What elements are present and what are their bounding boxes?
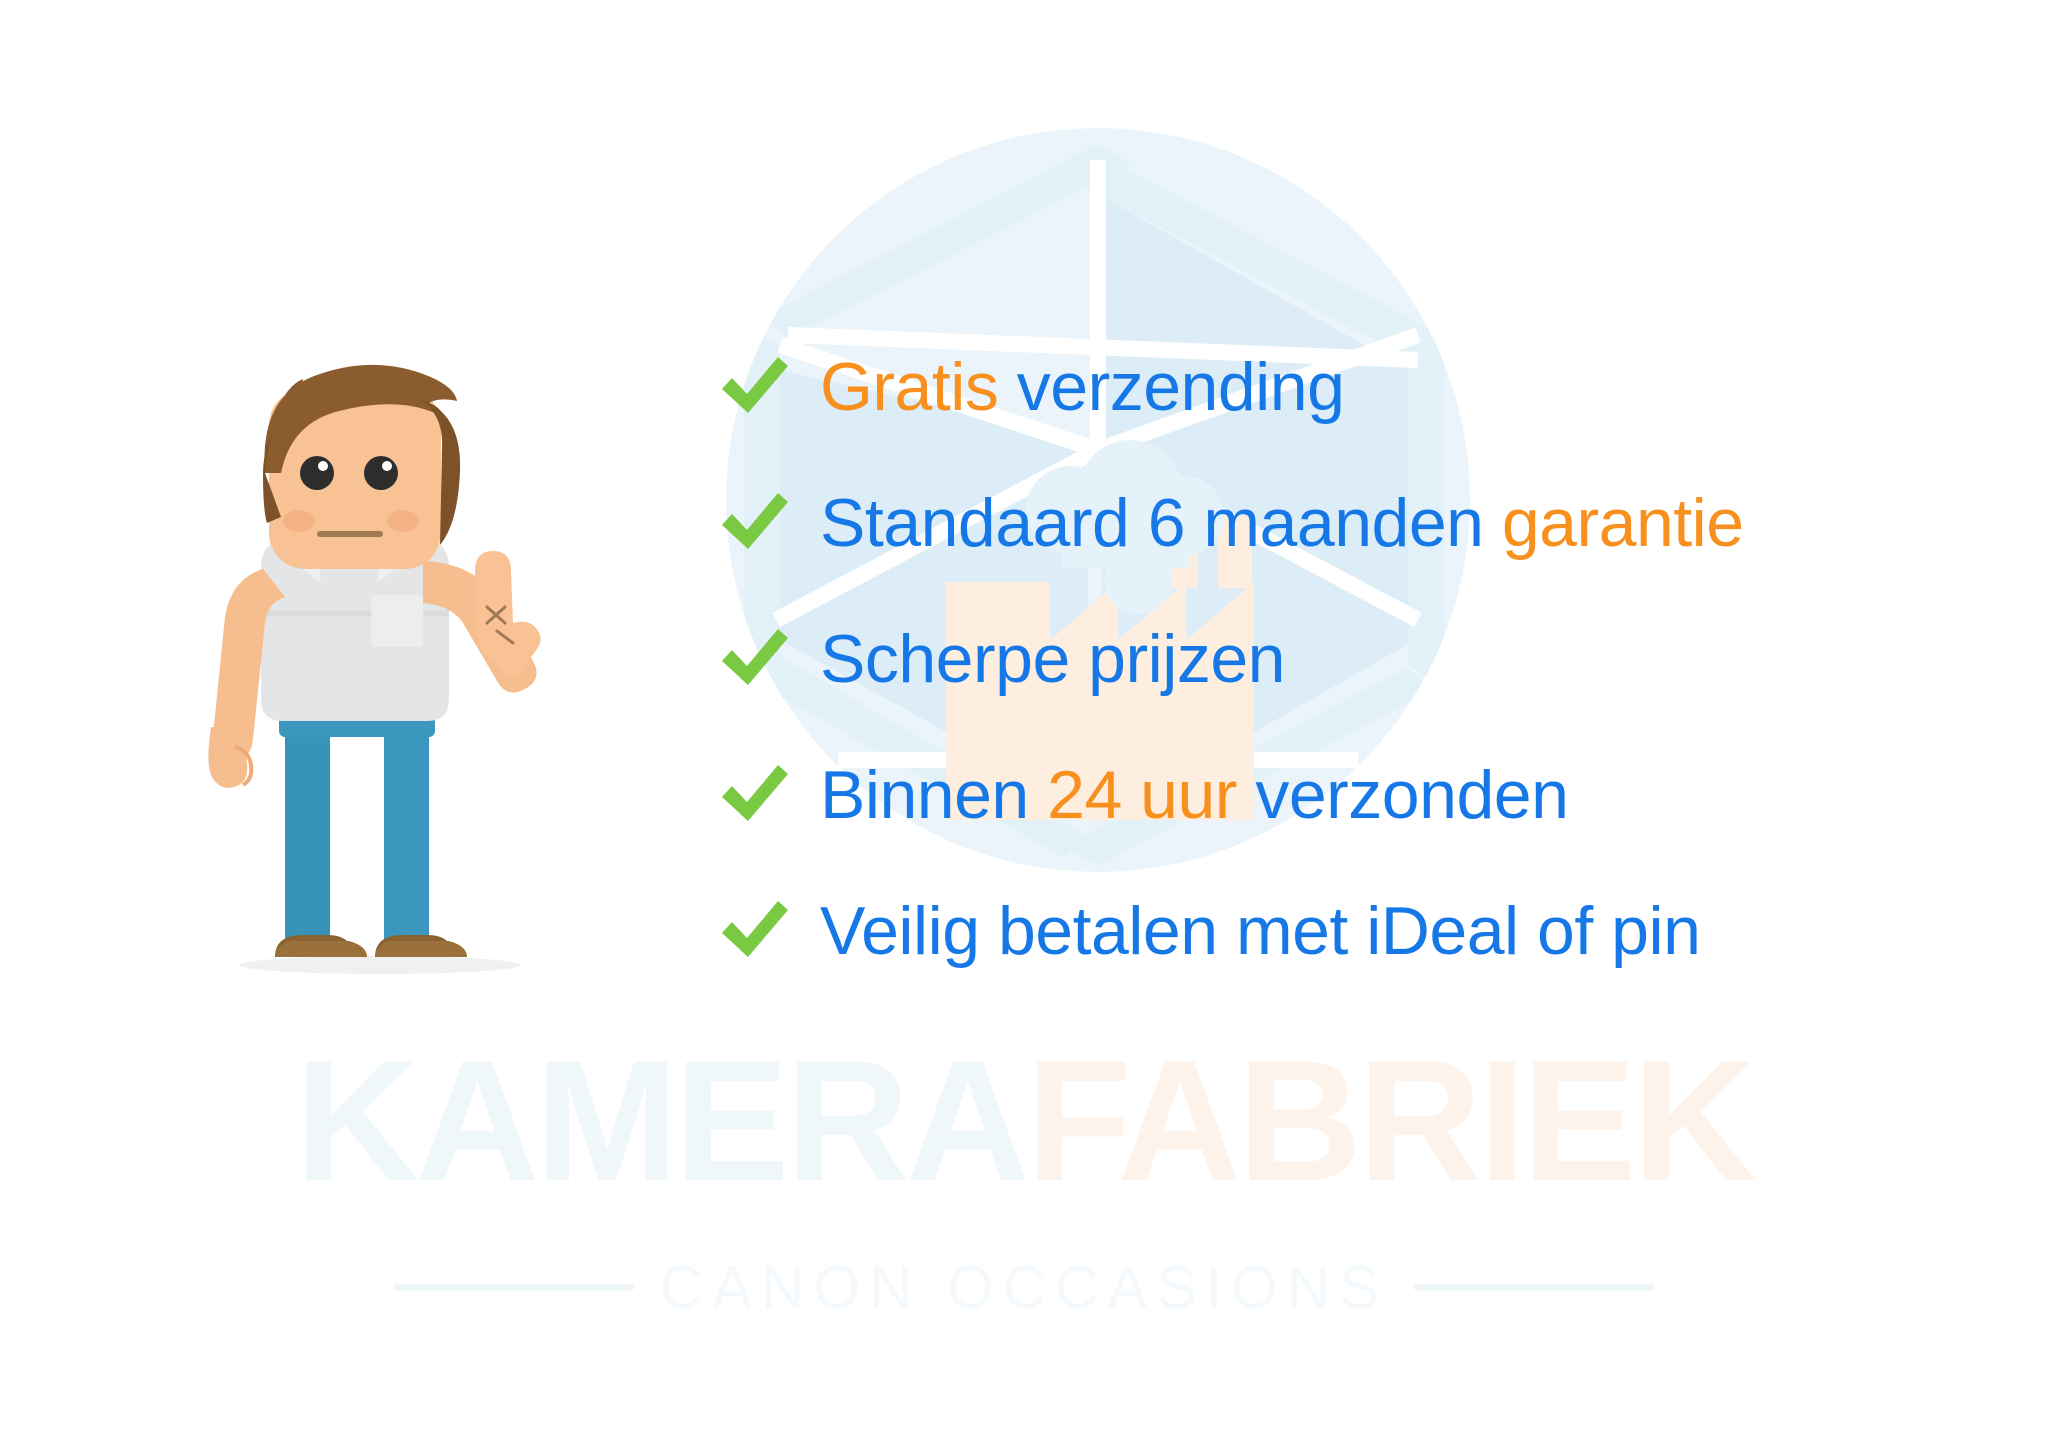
usp-list: Gratis verzending Standaard 6 maanden ga…	[712, 320, 2002, 1000]
pointing-man-character	[165, 355, 685, 995]
brand-wordmark-fabriek: FABRIEK	[1026, 1025, 1753, 1217]
usp-segment: verzonden	[1237, 757, 1568, 833]
check-icon	[712, 753, 798, 839]
usp-label: Binnen 24 uur verzonden	[820, 760, 1568, 831]
brand-tagline-row: CANON OCCASIONS	[0, 1253, 2048, 1322]
usp-segment: Gratis	[820, 349, 998, 425]
usp-segment: Binnen	[820, 757, 1047, 833]
usp-item-standaard-garantie: Standaard 6 maanden garantie	[712, 456, 2002, 592]
usp-item-veilig-betalen: Veilig betalen met iDeal of pin	[712, 864, 2002, 1000]
brand-rule-left	[394, 1284, 634, 1291]
usp-segment: verzending	[998, 349, 1344, 425]
usp-segment: Scherpe prijzen	[820, 621, 1285, 697]
usp-item-binnen-24-uur: Binnen 24 uur verzonden	[712, 728, 2002, 864]
usp-item-scherpe-prijzen: Scherpe prijzen	[712, 592, 2002, 728]
usp-label: Veilig betalen met iDeal of pin	[820, 896, 1700, 967]
usp-segment: Veilig betalen met iDeal of pin	[820, 893, 1700, 969]
usp-banner: Gratis verzending Standaard 6 maanden ga…	[0, 0, 2048, 1444]
brand-rule-right	[1414, 1284, 1654, 1291]
usp-item-gratis-verzending: Gratis verzending	[712, 320, 2002, 456]
usp-label: Standaard 6 maanden garantie	[820, 488, 1744, 559]
usp-label: Gratis verzending	[820, 352, 1344, 423]
usp-segment: Standaard 6 maanden	[820, 485, 1502, 561]
brand-wordmark-kamera: KAMERA	[295, 1025, 1026, 1217]
check-icon	[712, 889, 798, 975]
brand-tagline: CANON OCCASIONS	[660, 1253, 1388, 1322]
check-icon	[712, 481, 798, 567]
usp-label: Scherpe prijzen	[820, 624, 1285, 695]
usp-segment: 24 uur	[1047, 757, 1237, 833]
brand-watermark: KAMERAFABRIEK CANON OCCASIONS	[0, 1035, 2048, 1322]
check-icon	[712, 617, 798, 703]
brand-wordmark: KAMERAFABRIEK	[0, 1035, 2048, 1207]
check-icon	[712, 345, 798, 431]
usp-segment: garantie	[1502, 485, 1744, 561]
